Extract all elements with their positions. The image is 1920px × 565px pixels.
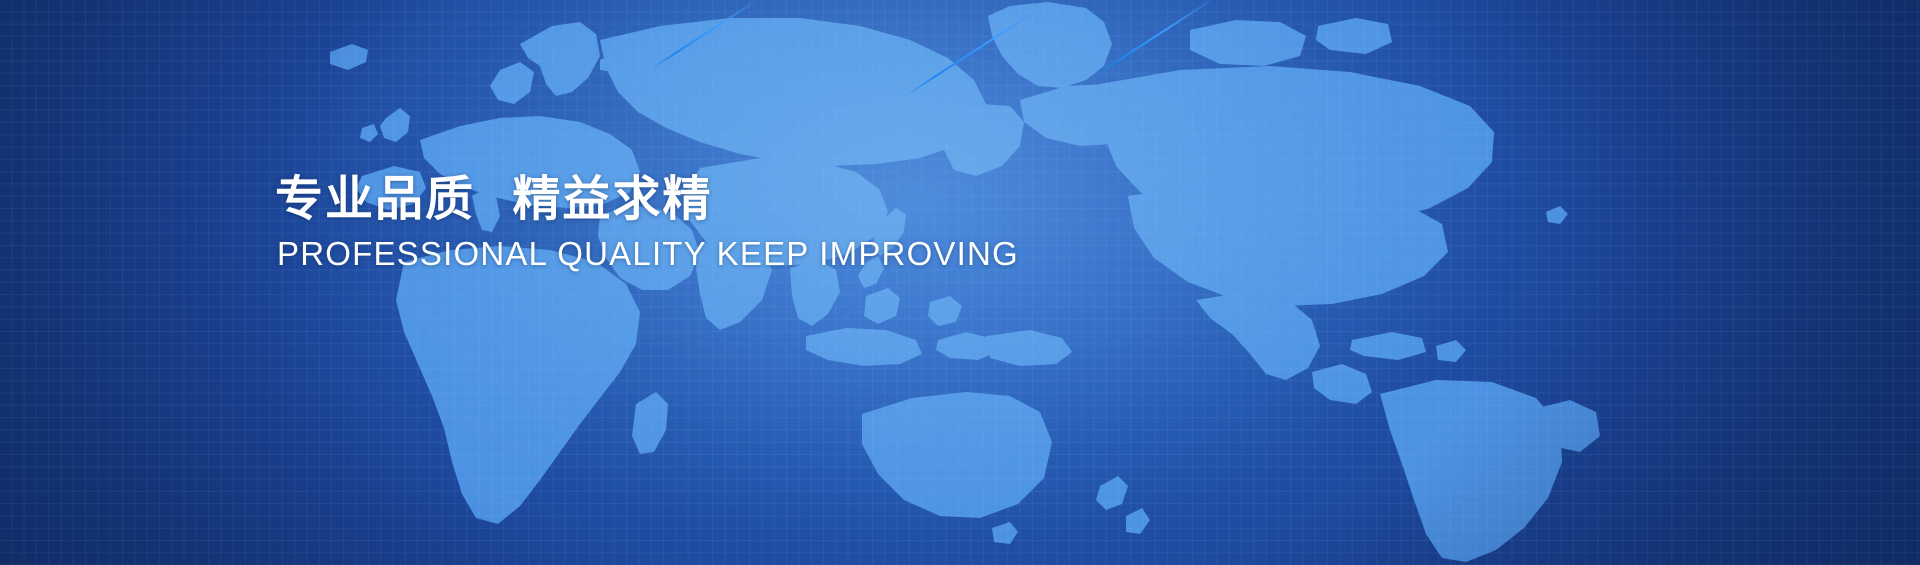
headline-english: PROFESSIONAL QUALITY KEEP IMPROVING — [277, 234, 1375, 274]
world-map-graphic — [0, 0, 1920, 565]
headline-chinese: 专业品质 精益求精 — [275, 170, 1375, 228]
banner-copy: 专业品质 精益求精 PROFESSIONAL QUALITY KEEP IMPR… — [275, 170, 1375, 274]
marketing-banner: 专业品质 精益求精 PROFESSIONAL QUALITY KEEP IMPR… — [0, 0, 1920, 565]
